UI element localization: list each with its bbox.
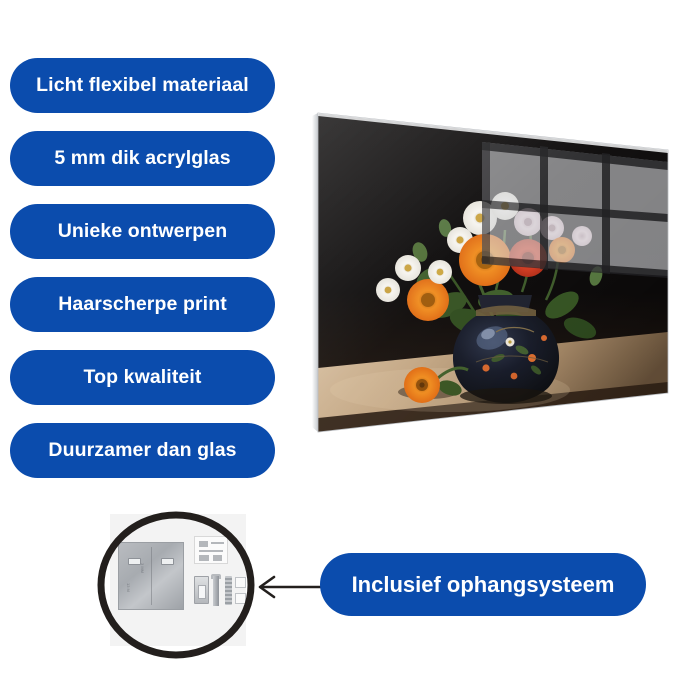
product-feature-graphic: Licht flexibel materiaal 5 mm dik acrylg… xyxy=(0,0,700,700)
feature-badge-label: Haarscherpe print xyxy=(58,295,227,315)
callout-badge-inclusief-ophangsysteem[interactable]: Inclusief ophangsysteem xyxy=(320,553,646,616)
feature-badge-unieke-ontwerpen[interactable]: Unieke ontwerpen xyxy=(10,204,275,259)
feature-badge-5-mm-dik-acrylglas[interactable]: 5 mm dik acrylglas xyxy=(10,131,275,186)
callout-badge-label: Inclusief ophangsysteem xyxy=(352,572,615,598)
feature-badge-duurzamer-dan-glas[interactable]: Duurzamer dan glas xyxy=(10,423,275,478)
feature-badge-label: Unieke ontwerpen xyxy=(58,222,228,242)
artwork-image xyxy=(310,105,675,445)
gloss-sheen xyxy=(318,113,668,432)
acrylic-edge-thickness xyxy=(312,113,318,432)
feature-badge-label: Duurzamer dan glas xyxy=(48,441,236,461)
feature-badge-label: Licht flexibel materiaal xyxy=(36,76,249,96)
hardware-highlight-circle xyxy=(96,511,256,659)
artwork-svg xyxy=(300,100,680,450)
feature-badge-top-kwaliteit[interactable]: Top kwaliteit xyxy=(10,350,275,405)
feature-badge-label: Top kwaliteit xyxy=(84,368,202,388)
feature-badge-haarscherpe-print[interactable]: Haarscherpe print xyxy=(10,277,275,332)
acrylic-art-panel[interactable] xyxy=(300,100,680,450)
feature-badge-licht-flexibel-materiaal[interactable]: Licht flexibel materiaal xyxy=(10,58,275,113)
feature-badge-label: 5 mm dik acrylglas xyxy=(54,149,230,169)
